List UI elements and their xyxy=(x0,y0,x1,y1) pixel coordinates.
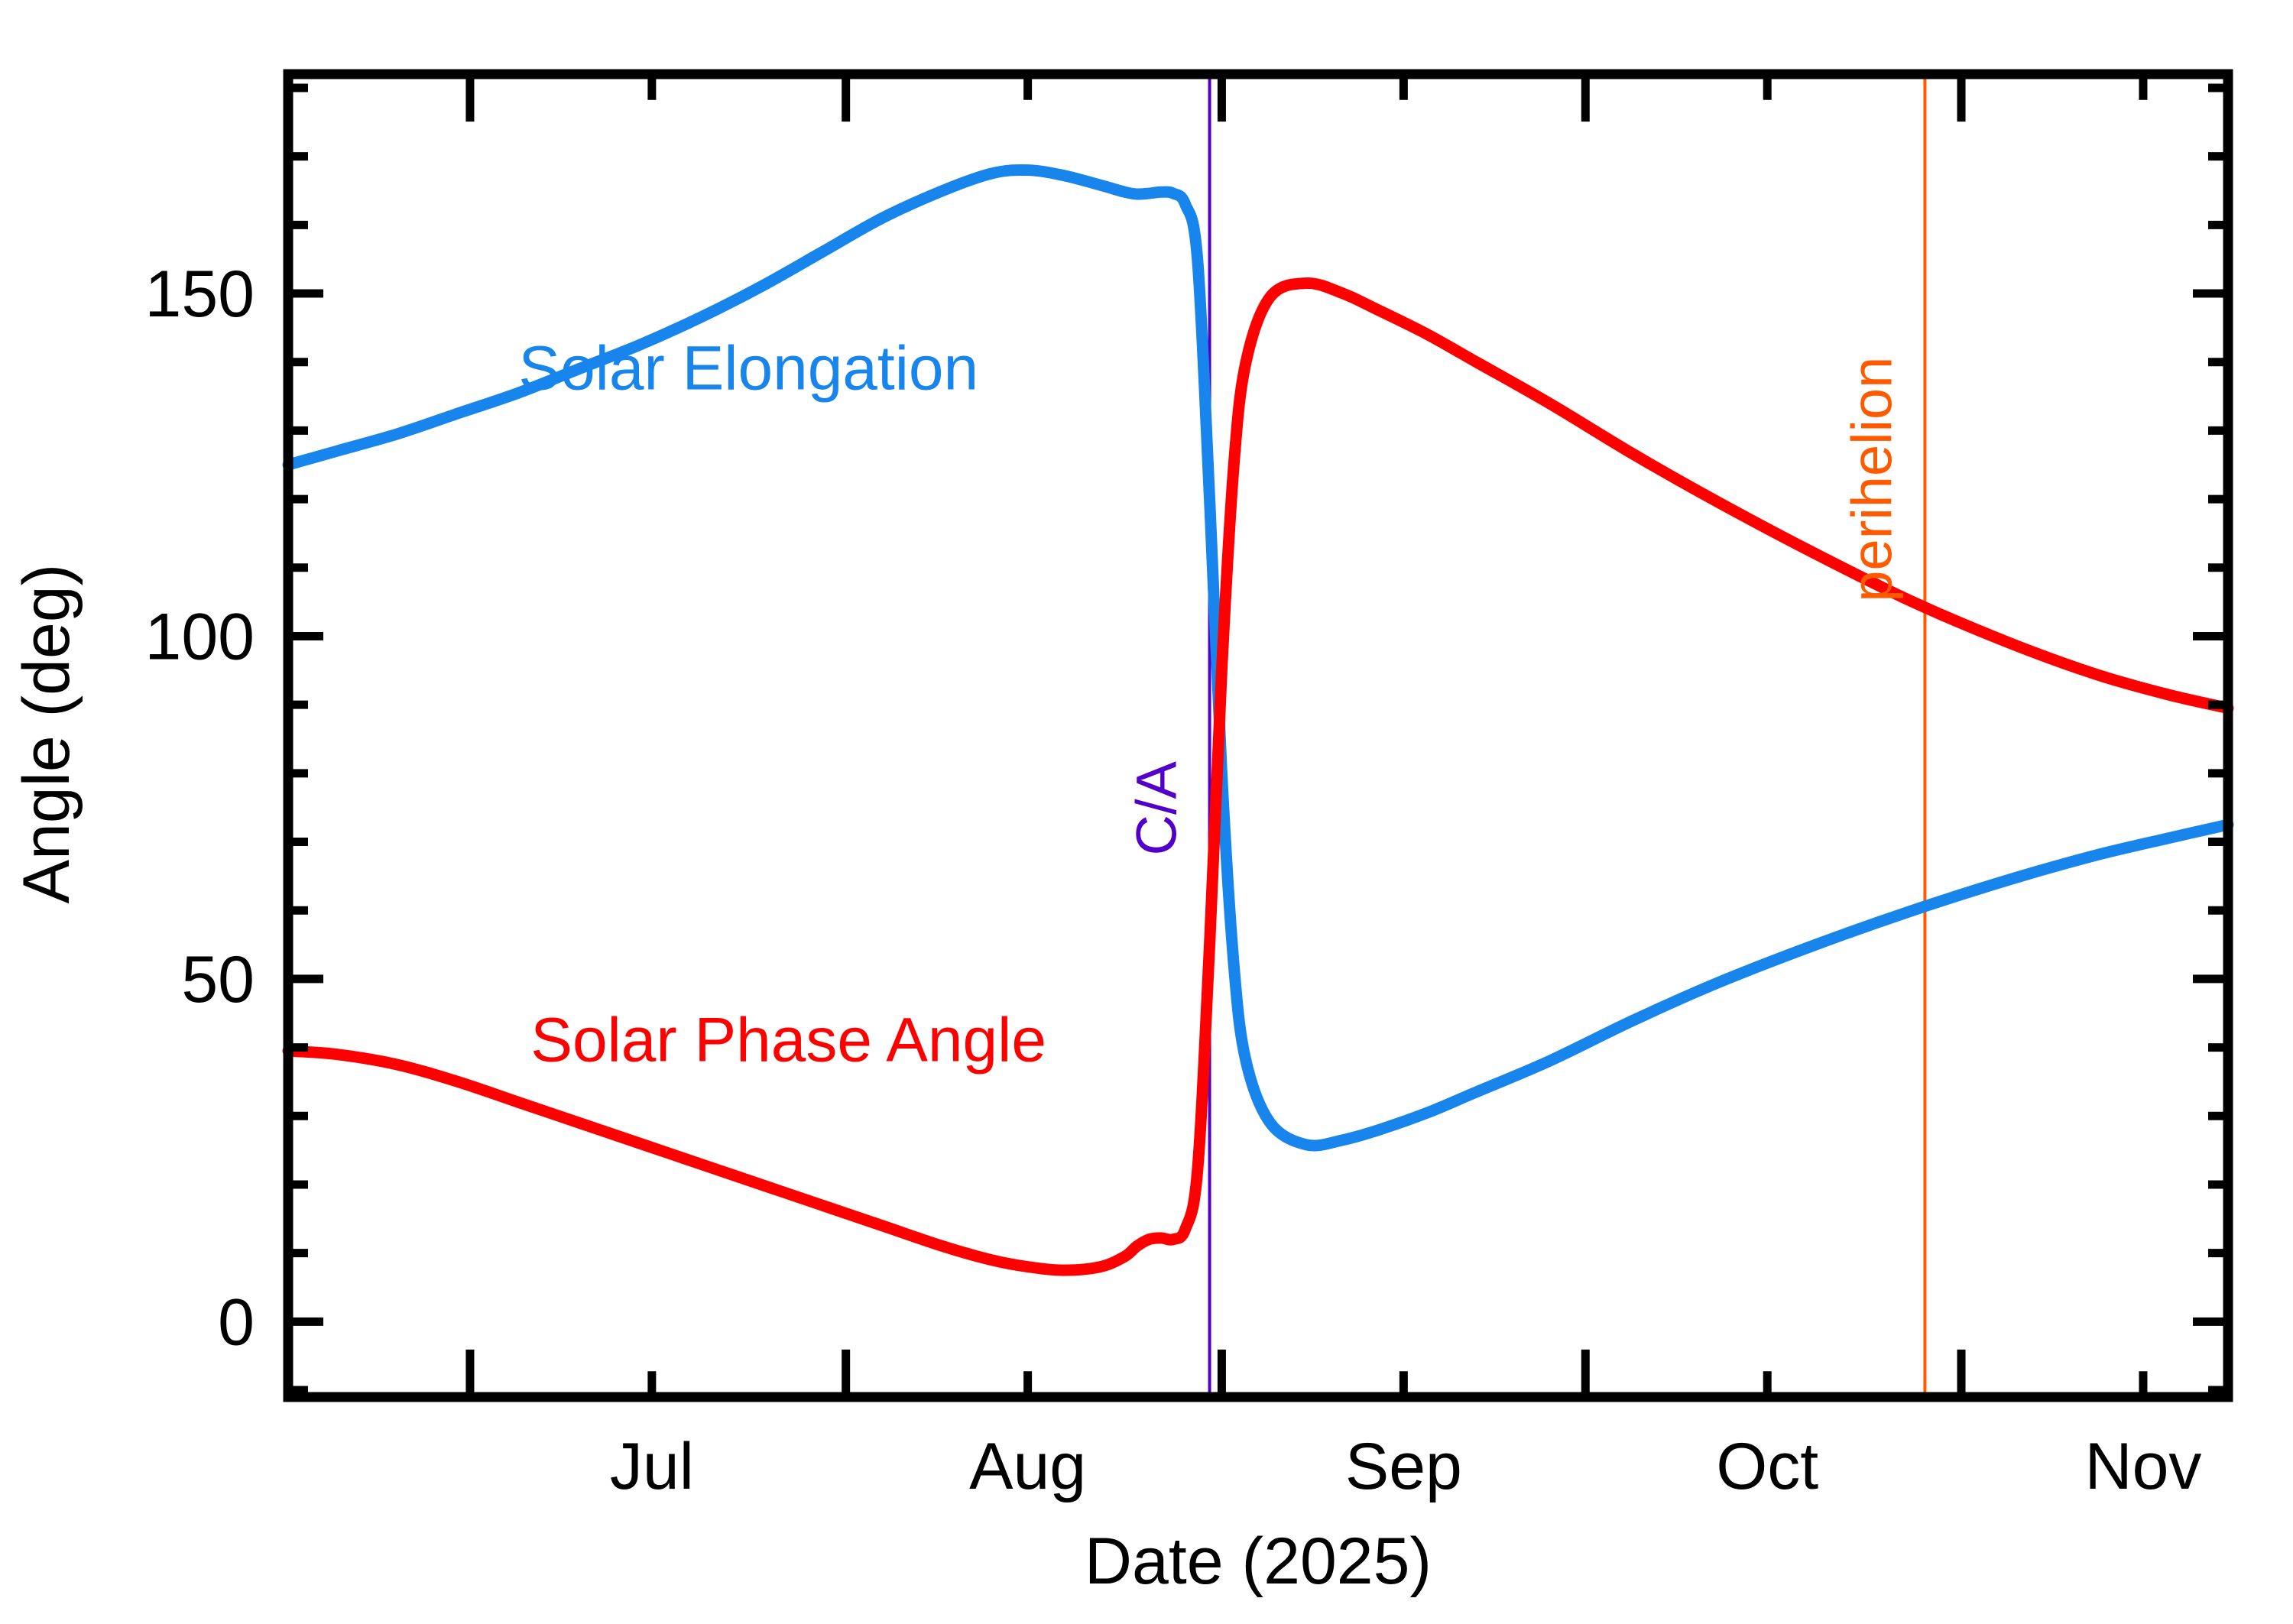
y-tick-label: 50 xyxy=(181,943,255,1016)
series-label-solar-elongation: Solar Elongation xyxy=(518,334,978,404)
x-tick-label-jul: Jul xyxy=(610,1430,694,1503)
series-label-solar-phase-angle: Solar Phase Angle xyxy=(530,1006,1046,1075)
marker-label-c-a: C/A xyxy=(1125,760,1189,855)
marker-label-perihelion: perihelion xyxy=(1840,357,1903,602)
y-tick-label: 100 xyxy=(145,600,255,673)
chart-canvas: 050100150JulAugSepOctNov C/AperihelionSo… xyxy=(0,0,2293,1624)
x-tick-label-oct: Oct xyxy=(1716,1430,1818,1503)
x-tick-label-nov: Nov xyxy=(2084,1430,2201,1503)
x-axis-title: Date (2025) xyxy=(1085,1525,1432,1598)
y-tick-label: 150 xyxy=(145,258,255,331)
y-axis-title: Angle (deg) xyxy=(10,564,83,904)
y-tick-label: 0 xyxy=(218,1285,255,1359)
x-tick-label-aug: Aug xyxy=(969,1430,1086,1503)
solar-elongation-phase-angle-chart: 050100150JulAugSepOctNov C/AperihelionSo… xyxy=(0,0,2293,1624)
x-tick-label-sep: Sep xyxy=(1345,1430,1462,1503)
